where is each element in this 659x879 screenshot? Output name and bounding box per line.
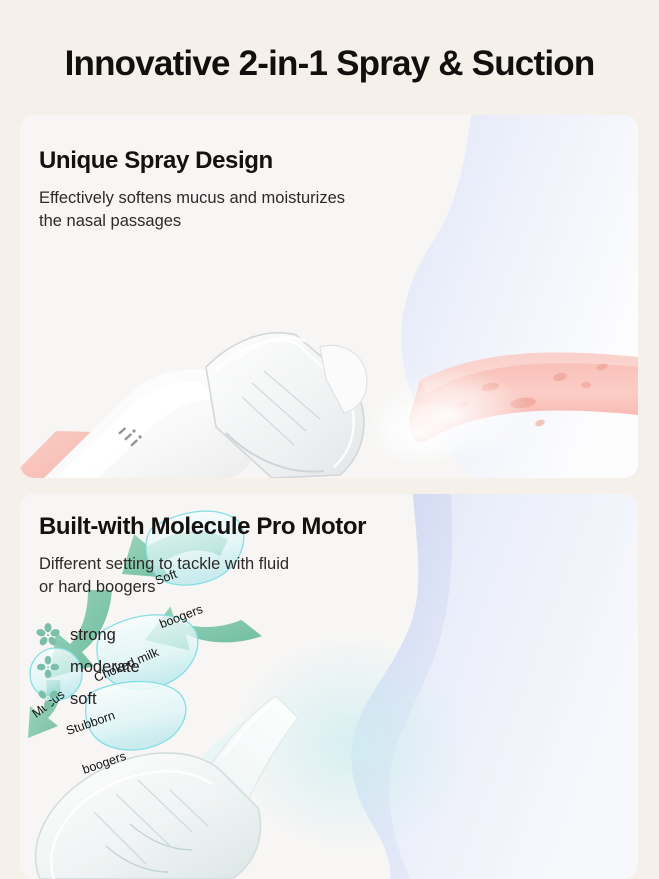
suction-level-strong: strong: [35, 619, 140, 651]
suction-level-moderate-label: moderate: [70, 658, 140, 677]
card-body-motor: Different setting to tackle with fluid o…: [39, 553, 289, 599]
card-body-motor-line2: or hard boogers: [39, 576, 289, 599]
card-body-spray-line1: Effectively softens mucus and moisturize…: [39, 187, 345, 210]
fan-icon-soft: [35, 686, 61, 712]
suction-level-moderate: moderate: [35, 651, 140, 683]
suction-level-strong-label: strong: [70, 626, 116, 645]
fan-icon-strong: [35, 622, 61, 648]
suction-level-list: strong moderate: [35, 619, 140, 715]
page-title: Innovative 2-in-1 Spray & Suction: [0, 44, 659, 84]
fan-icon-moderate: [35, 654, 61, 680]
card-heading-spray: Unique Spray Design: [39, 147, 273, 175]
card-molecule-pro-motor: Soft boogers Choked milk Mucus Stubborn …: [20, 494, 638, 879]
card-unique-spray-design: Unique Spray Design Effectively softens …: [20, 115, 638, 478]
card-heading-motor: Built-with Molecule Pro Motor: [39, 513, 366, 541]
suction-level-soft-label: soft: [70, 690, 97, 709]
card-body-spray-line2: the nasal passages: [39, 210, 345, 233]
card-body-spray: Effectively softens mucus and moisturize…: [39, 187, 345, 233]
suction-level-soft: soft: [35, 683, 140, 715]
card-body-motor-line1: Different setting to tackle with fluid: [39, 553, 289, 576]
